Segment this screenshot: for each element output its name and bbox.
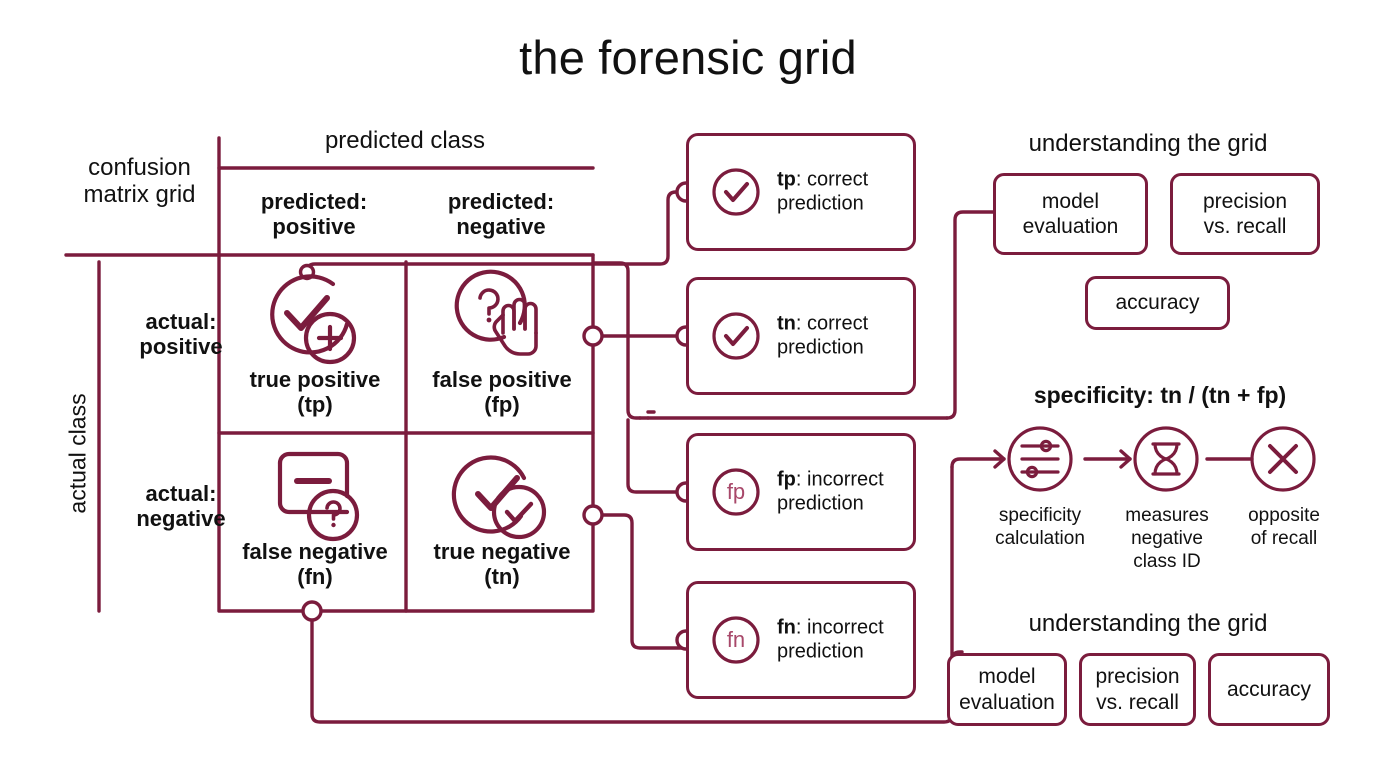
cell-fn-line2: (fn) xyxy=(225,565,405,590)
question-hand-icon xyxy=(457,272,536,354)
junction-dot-fn-cell xyxy=(303,602,321,620)
chip-bottom-precision-vs-recall[interactable]: precision vs. recall xyxy=(1079,653,1196,726)
cell-fp-line1: false positive xyxy=(412,368,592,393)
hourglass-circle-icon xyxy=(1135,428,1197,490)
chip-bottom-model-evaluation[interactable]: model evaluation xyxy=(947,653,1067,726)
note-fp-rest: : incorrect xyxy=(796,469,884,491)
note-tp-rest: : correct xyxy=(796,169,868,191)
note-card-fn[interactable]: fn fn: incorrect prediction xyxy=(686,581,916,699)
specificity-formula: specificity: tn / (tn + fp) xyxy=(960,382,1360,409)
chip-bot-pr-l1: precision xyxy=(1095,665,1179,688)
matrix-cell-caption-fp: false positive (fp) xyxy=(412,368,592,418)
specificity-step-2-caption: measures negative class ID xyxy=(1096,504,1238,574)
chip-top-me-l1: model xyxy=(1042,190,1099,213)
note-tp-line2: prediction xyxy=(777,193,864,215)
abbr-circle-icon: fp xyxy=(709,465,763,519)
matrix-actual-class-label: actual class xyxy=(65,354,92,554)
check-circle-icon xyxy=(709,309,763,363)
double-check-circle-icon xyxy=(454,458,544,537)
col-header-pos-line2: positive xyxy=(225,215,403,240)
col-header-pos-line1: predicted: xyxy=(225,190,403,215)
minus-card-question-icon xyxy=(280,454,357,539)
note-card-tp[interactable]: tp: correct prediction xyxy=(686,133,916,251)
cell-fn-line1: false negative xyxy=(225,540,405,565)
connector-specificity-arrow-line xyxy=(952,459,1004,467)
chip-bottom-precision-label: precision vs. recall xyxy=(1095,664,1179,714)
panel-bottom-heading: understanding the grid xyxy=(1003,610,1293,638)
note-tn-line2: prediction xyxy=(777,337,864,359)
spec-step3-l2: of recall xyxy=(1218,527,1350,550)
specificity-step-1-caption: specificity calculation xyxy=(965,504,1115,550)
row-header-neg-line2: negative xyxy=(105,507,257,532)
junction-dot-tn-row xyxy=(584,506,602,524)
abbr-circle-icon: fn xyxy=(709,613,763,667)
note-fp-strong: fp xyxy=(777,469,796,491)
note-fp-line2: prediction xyxy=(777,493,864,515)
note-fp-abbr: fp xyxy=(709,465,763,519)
connector-fp-note xyxy=(628,420,686,492)
chip-bottom-model-evaluation-label: model evaluation xyxy=(959,664,1055,714)
connector-specificity-arrowhead xyxy=(995,451,1004,467)
note-tn-rest: : correct xyxy=(796,313,868,335)
cell-fp-line2: (fp) xyxy=(412,393,592,418)
spec-step2-l1: measures xyxy=(1096,504,1238,527)
chip-bot-me-l2: evaluation xyxy=(959,691,1055,714)
chip-top-accuracy-label: accuracy xyxy=(1115,290,1199,315)
spec-step3-l1: opposite xyxy=(1218,504,1350,527)
chip-bottom-accuracy[interactable]: accuracy xyxy=(1208,653,1330,726)
col-header-neg-line2: negative xyxy=(412,215,590,240)
chip-top-precision-vs-recall[interactable]: precision vs. recall xyxy=(1170,173,1320,255)
connector-fn-note xyxy=(596,515,686,648)
sliders-circle-icon xyxy=(1009,428,1071,490)
chip-bot-me-l1: model xyxy=(978,665,1035,688)
matrix-row-header-positive: actual: positive xyxy=(105,310,257,359)
matrix-corner-label-line1: confusion xyxy=(42,155,237,182)
note-card-tn-text: tn: correct prediction xyxy=(777,312,913,361)
note-card-fp-text: fp: incorrect prediction xyxy=(777,468,913,517)
note-fn-line2: prediction xyxy=(777,641,864,663)
cell-tp-line2: (tp) xyxy=(225,393,405,418)
row-header-pos-line1: actual: xyxy=(105,310,257,335)
col-header-neg-line1: predicted: xyxy=(412,190,590,215)
chip-top-accuracy[interactable]: accuracy xyxy=(1085,276,1230,330)
x-circle-icon xyxy=(1252,428,1314,490)
matrix-corner-label: confusion matrix grid xyxy=(42,155,237,209)
note-card-fn-text: fn: incorrect prediction xyxy=(777,616,913,665)
chip-top-model-evaluation-label: model evaluation xyxy=(1023,189,1119,239)
specificity-step-3-caption: opposite of recall xyxy=(1218,504,1350,550)
note-card-tn[interactable]: tn: correct prediction xyxy=(686,277,916,395)
chip-bot-pr-l2: vs. recall xyxy=(1096,691,1179,714)
spec-step2-l2: negative xyxy=(1096,527,1238,550)
chip-top-pr-l2: vs. recall xyxy=(1204,215,1287,238)
note-tn-strong: tn xyxy=(777,313,796,335)
chip-top-model-evaluation[interactable]: model evaluation xyxy=(993,173,1148,255)
chip-top-precision-label: precision vs. recall xyxy=(1203,189,1287,239)
matrix-corner-label-line2: matrix grid xyxy=(42,182,237,209)
panel-top-heading: understanding the grid xyxy=(1003,130,1293,158)
matrix-cell-caption-fn: false negative (fn) xyxy=(225,540,405,590)
matrix-cell-caption-tn: true negative (tn) xyxy=(412,540,592,590)
note-tp-strong: tp xyxy=(777,169,796,191)
page-title: the forensic grid xyxy=(0,32,1376,85)
row-header-neg-line1: actual: xyxy=(105,482,257,507)
cell-tn-line1: true negative xyxy=(412,540,592,565)
junction-dot-tp-cell xyxy=(301,266,314,279)
matrix-row-header-negative: actual: negative xyxy=(105,482,257,531)
chip-top-pr-l1: precision xyxy=(1203,190,1287,213)
diagram-canvas: the forensic grid xyxy=(0,0,1376,768)
note-fn-abbr: fn xyxy=(709,613,763,667)
spec-step1-l1: specificity xyxy=(965,504,1115,527)
matrix-col-header-positive: predicted: positive xyxy=(225,190,403,239)
matrix-cell-caption-tp: true positive (tp) xyxy=(225,368,405,418)
note-fn-rest: : incorrect xyxy=(796,617,884,639)
note-card-tp-text: tp: correct prediction xyxy=(777,168,913,217)
note-card-fp[interactable]: fp fp: incorrect prediction xyxy=(686,433,916,551)
cell-tp-line1: true positive xyxy=(225,368,405,393)
row-header-pos-line2: positive xyxy=(105,335,257,360)
check-circle-plus-icon xyxy=(272,276,354,362)
spec-step1-l2: calculation xyxy=(965,527,1115,550)
matrix-predicted-class-label: predicted class xyxy=(245,128,565,155)
chip-bottom-accuracy-label: accuracy xyxy=(1227,677,1311,702)
junction-dot-fp-row xyxy=(584,327,602,345)
arrow-specificity-to-measures-head xyxy=(1121,451,1130,467)
matrix-col-header-negative: predicted: negative xyxy=(412,190,590,239)
check-circle-icon xyxy=(709,165,763,219)
chip-top-me-l2: evaluation xyxy=(1023,215,1119,238)
spec-step2-l3: class ID xyxy=(1096,550,1238,573)
cell-tn-line2: (tn) xyxy=(412,565,592,590)
note-fn-strong: fn xyxy=(777,617,796,639)
